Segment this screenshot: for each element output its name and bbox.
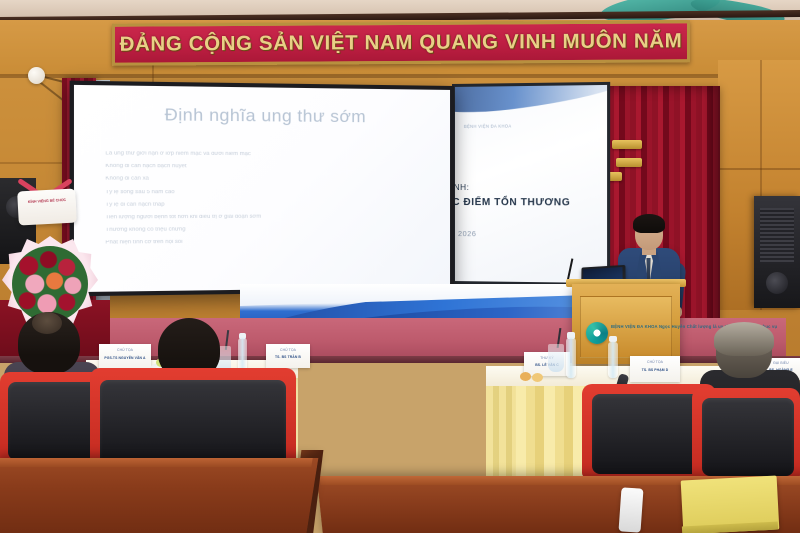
presenter-hair (633, 214, 665, 233)
desk-edge (0, 458, 313, 467)
name-card-role: CHỦ TỌA (99, 348, 151, 353)
secondary-screen-surface: BỆNH VIỆN ĐA KHOA ÀNH: ẶC ĐIỂM TỔN THƯƠN… (455, 85, 607, 283)
gold-tieback (616, 158, 642, 167)
slide-bullet: Tiên lượng người bệnh tốt hơn khi điều t… (105, 214, 428, 221)
water-bottle (608, 342, 618, 378)
wall-trim (0, 74, 800, 78)
wall-clock-disc-icon (28, 67, 45, 84)
audience-person-hair (32, 312, 62, 334)
plastic-cup (548, 344, 564, 372)
name-card-name: TS. BS TRẦN B (266, 355, 310, 360)
name-card: CHỦ TỌA TS. BS TRẦN B (266, 344, 310, 368)
slide-bullet: Phát hiện tình cờ trên nội soi (105, 239, 428, 247)
name-card-name: PGS.TS NGUYỄN VĂN A (99, 356, 151, 361)
fruit (520, 372, 531, 381)
water-bottle (566, 338, 576, 378)
secondary-screen-logo-text: BỆNH VIỆN ĐA KHOA (464, 123, 512, 129)
slide-bullet: Tỷ lệ sống sau 5 năm cao (105, 190, 428, 196)
slide-bullet: Không di căn xa (105, 177, 428, 183)
name-card: CHỦ TỌA PGS.TS NGUYỄN VĂN A (99, 344, 151, 370)
slide-bullet: Thường không có triệu chứng (105, 226, 428, 234)
slogan-banner-text: ĐẢNG CỘNG SẢN VIỆT NAM QUANG VINH MUÔN N… (112, 20, 690, 66)
speaker-grill (760, 208, 794, 264)
slide-bullet: Không di căn hạch bạch huyết (105, 164, 428, 171)
secondary-screen-line2: ẶC ĐIỂM TỔN THƯƠNG (455, 197, 570, 208)
wall-seam (0, 162, 64, 164)
screen-swoosh-graphic (455, 85, 607, 118)
speaker-cone-icon (766, 272, 788, 294)
wall-seam (718, 168, 800, 170)
slide-surface: Định nghĩa ung thư sớm Là ung thư giới h… (74, 85, 450, 292)
conference-hall-photo: ĐẢNG CỘNG SẢN VIỆT NAM QUANG VINH MUÔN N… (0, 0, 800, 533)
main-projection-screen: Định nghĩa ung thư sớm Là ung thư giới h… (70, 81, 454, 297)
flower-greeting-card (17, 189, 77, 226)
slide-bullet-list: Là ung thư giới hạn ở lớp niêm mạc và dư… (105, 151, 428, 253)
secondary-screen-line1: ÀNH: (455, 182, 469, 192)
chair-backrest (592, 394, 706, 474)
secondary-projection-screen: BỆNH VIỆN ĐA KHOA ÀNH: ẶC ĐIỂM TỔN THƯƠN… (452, 82, 610, 286)
slide-bullet: Là ung thư giới hạn ở lớp niêm mạc và dư… (105, 151, 428, 158)
name-card-role: CHỦ TỌA (630, 360, 680, 365)
name-card: CHỦ TỌA TS. BS PHẠM D (630, 356, 680, 382)
foreground-desk-left (0, 458, 318, 533)
name-card-name: TS. BS PHẠM D (630, 368, 680, 373)
remote-control (618, 487, 643, 532)
fruit (532, 373, 543, 382)
name-card-role: CHỦ TỌA (266, 348, 310, 353)
secondary-screen-date: 2026 (458, 229, 476, 238)
flower-bouquet (12, 246, 88, 322)
chair-backrest (702, 398, 794, 476)
slide-title: Định nghĩa ung thư sớm (105, 104, 421, 128)
hospital-swirl-logo-icon (586, 322, 608, 344)
audience-person-hair (714, 322, 774, 356)
gold-tieback (612, 140, 642, 149)
slide-bullet: Tỷ lệ di căn hạch thấp (105, 202, 428, 208)
chair-backrest (100, 380, 286, 466)
